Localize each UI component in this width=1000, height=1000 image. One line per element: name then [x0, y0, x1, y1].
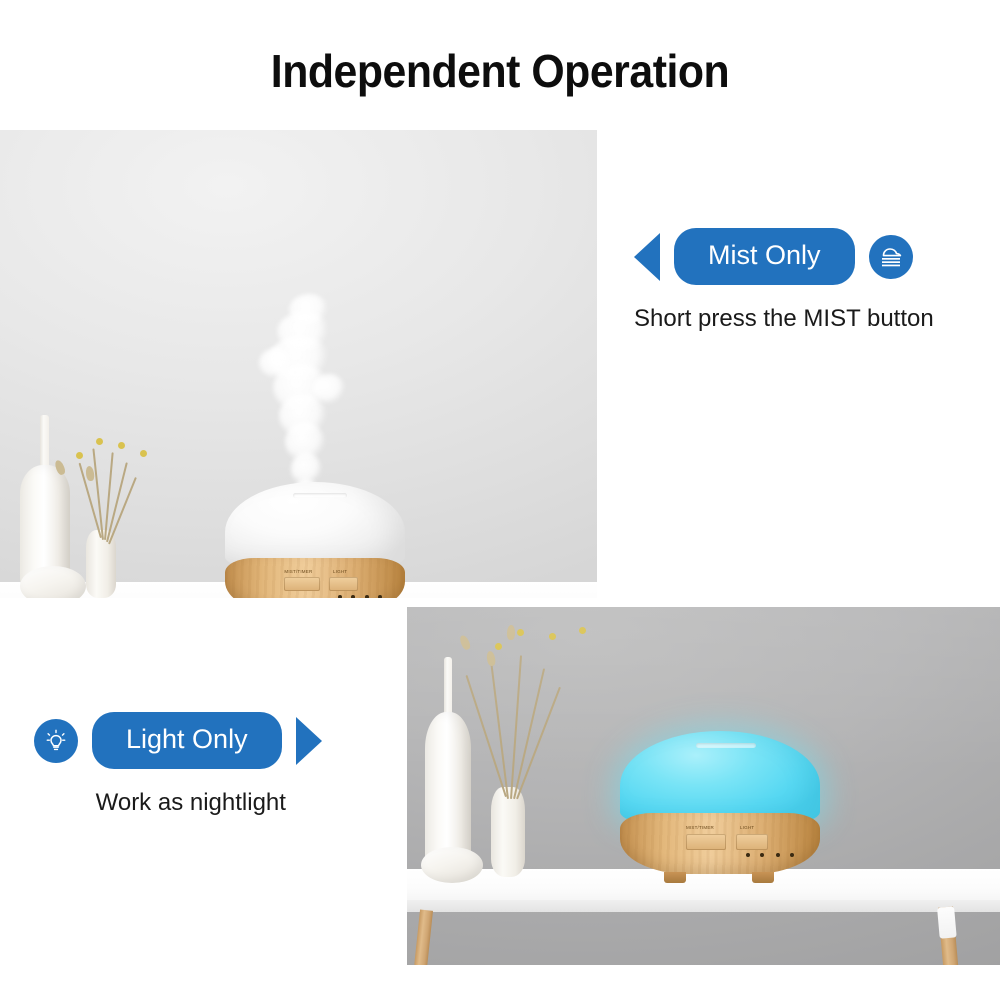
- dried-bud: [579, 627, 586, 634]
- dried-stem: [108, 477, 136, 544]
- table-leg: [414, 909, 433, 965]
- dried-bud: [507, 625, 516, 640]
- light-button-label: LIGHT: [333, 569, 347, 574]
- callout-light-only: Light Only Work as nightlight: [34, 712, 322, 817]
- table-leg-sleeved: [938, 906, 959, 965]
- light-button[interactable]: [736, 834, 768, 850]
- diffuser-dome-glowing: [620, 731, 820, 825]
- photo-mist-only: MIST/TIMER LIGHT: [0, 130, 597, 598]
- room-scene-bright: MIST/TIMER LIGHT: [0, 130, 597, 598]
- mist-only-pill[interactable]: Mist Only: [674, 228, 855, 285]
- diffuser-device: MIST/TIMER LIGHT: [620, 731, 820, 883]
- dried-stem: [510, 655, 522, 799]
- dried-bud: [76, 452, 83, 459]
- mist-only-badge-row: Mist Only: [634, 228, 934, 285]
- mist-timer-button-label: MIST/TIMER: [284, 569, 312, 574]
- light-only-pill[interactable]: Light Only: [92, 712, 282, 769]
- led-indicator: [760, 853, 764, 857]
- diffuser-wood-base: MIST/TIMER LIGHT: [225, 558, 405, 598]
- photo-light-only: MIST/TIMER LIGHT: [407, 607, 1000, 965]
- diffuser-foot: [752, 872, 774, 883]
- dried-bud: [140, 450, 147, 457]
- light-button-label: LIGHT: [740, 825, 754, 830]
- light-only-caption: Work as nightlight: [60, 789, 322, 817]
- mist-icon: [869, 235, 913, 279]
- diffuser-dome: [225, 482, 405, 569]
- dried-bud: [517, 629, 524, 636]
- arrow-left-icon: [634, 233, 660, 281]
- led-indicator: [338, 595, 342, 598]
- dried-bud: [118, 442, 125, 449]
- mini-vase: [86, 530, 116, 598]
- dried-bud: [458, 634, 471, 651]
- mist-vent: [293, 493, 347, 497]
- led-indicator: [351, 595, 355, 598]
- decor-pebble: [20, 566, 86, 598]
- led-indicator: [776, 853, 780, 857]
- dried-stem: [516, 687, 560, 800]
- table-edge: [407, 900, 1000, 912]
- mist-timer-button[interactable]: [284, 577, 320, 592]
- led-indicator: [378, 595, 382, 598]
- dried-bud: [486, 650, 496, 666]
- arrow-right-icon: [296, 717, 322, 765]
- diffuser-device: MIST/TIMER LIGHT: [225, 482, 405, 598]
- mini-vase: [491, 787, 525, 877]
- mist-timer-button-label: MIST/TIMER: [686, 825, 714, 830]
- room-scene-dim: MIST/TIMER LIGHT: [407, 607, 1000, 965]
- lightbulb-icon: [34, 719, 78, 763]
- page-title: Independent Operation: [35, 44, 965, 98]
- light-only-badge-row: Light Only: [34, 712, 322, 769]
- dried-bud: [495, 643, 502, 650]
- mist-plume: [255, 290, 365, 500]
- diffuser-wood-base: MIST/TIMER LIGHT: [620, 813, 820, 874]
- led-indicator: [790, 853, 794, 857]
- mist-only-caption: Short press the MIST button: [634, 305, 934, 333]
- mist-vent: [696, 743, 756, 748]
- led-indicator: [746, 853, 750, 857]
- decor-pebble: [421, 847, 483, 883]
- dried-bud: [96, 438, 103, 445]
- callout-mist-only: Mist Only Short press the MIST button: [634, 228, 934, 333]
- mist-timer-button[interactable]: [686, 834, 726, 850]
- light-button[interactable]: [329, 577, 358, 592]
- diffuser-foot: [664, 872, 686, 883]
- led-indicator: [365, 595, 369, 598]
- dried-bud: [549, 633, 556, 640]
